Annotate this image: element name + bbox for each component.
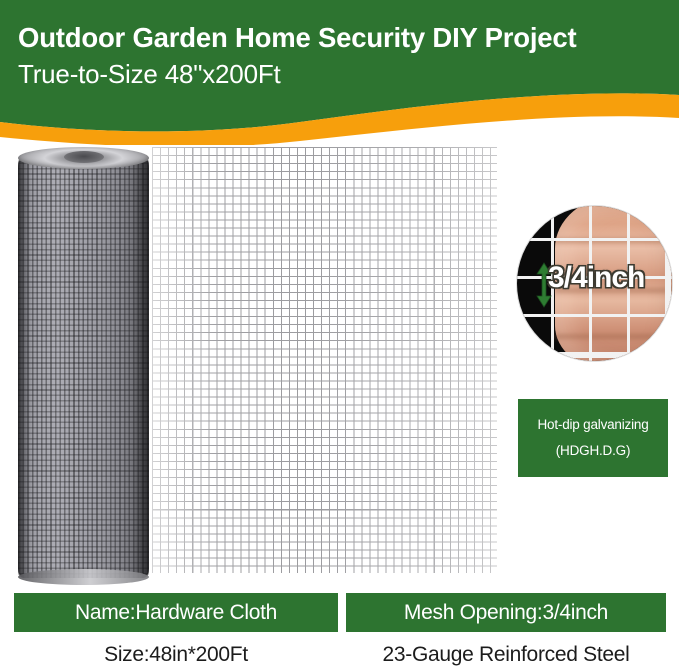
spec-bar-mesh-opening-label: Mesh Opening:3/4inch: [404, 601, 608, 625]
spec-sub-size: Size:48in*200Ft: [14, 640, 338, 670]
galvanizing-line-2: (HDGH.D.G): [556, 438, 631, 464]
roll-body: [18, 157, 149, 578]
page-title: Outdoor Garden Home Security DIY Project: [18, 22, 576, 54]
spec-bar-mesh-opening: Mesh Opening:3/4inch: [346, 593, 666, 632]
spec-sub-gauge: 23-Gauge Reinforced Steel: [346, 640, 666, 670]
roll-core-hole: [64, 151, 104, 163]
galvanizing-info-box: Hot-dip galvanizing (HDGH.D.G): [518, 399, 668, 477]
mesh-highlight-overlay: [152, 147, 497, 573]
spec-sub-size-label: Size:48in*200Ft: [104, 643, 248, 667]
product-infographic: Outdoor Garden Home Security DIY Project…: [0, 0, 679, 670]
spec-sub-gauge-label: 23-Gauge Reinforced Steel: [383, 643, 630, 667]
spec-bar-name: Name:Hardware Cloth: [14, 593, 338, 632]
hardware-cloth-roll-image: [18, 147, 149, 578]
mesh-size-callout-photo: 3/4inch: [517, 206, 672, 361]
roll-right-shading: [133, 157, 149, 578]
mesh-size-label: 3/4inch: [548, 261, 644, 295]
header-banner: Outdoor Garden Home Security DIY Project…: [0, 0, 679, 145]
spec-bar-name-label: Name:Hardware Cloth: [75, 601, 277, 625]
header-text-group: Outdoor Garden Home Security DIY Project…: [0, 0, 679, 125]
roll-top-ellipse: [18, 147, 149, 169]
roll-left-shading: [18, 157, 31, 578]
page-subtitle: True-to-Size 48"x200Ft: [18, 59, 281, 90]
wire-mesh-sheet-image: [152, 147, 497, 573]
roll-bottom-ellipse: [18, 569, 149, 585]
galvanizing-line-1: Hot-dip galvanizing: [537, 412, 648, 438]
